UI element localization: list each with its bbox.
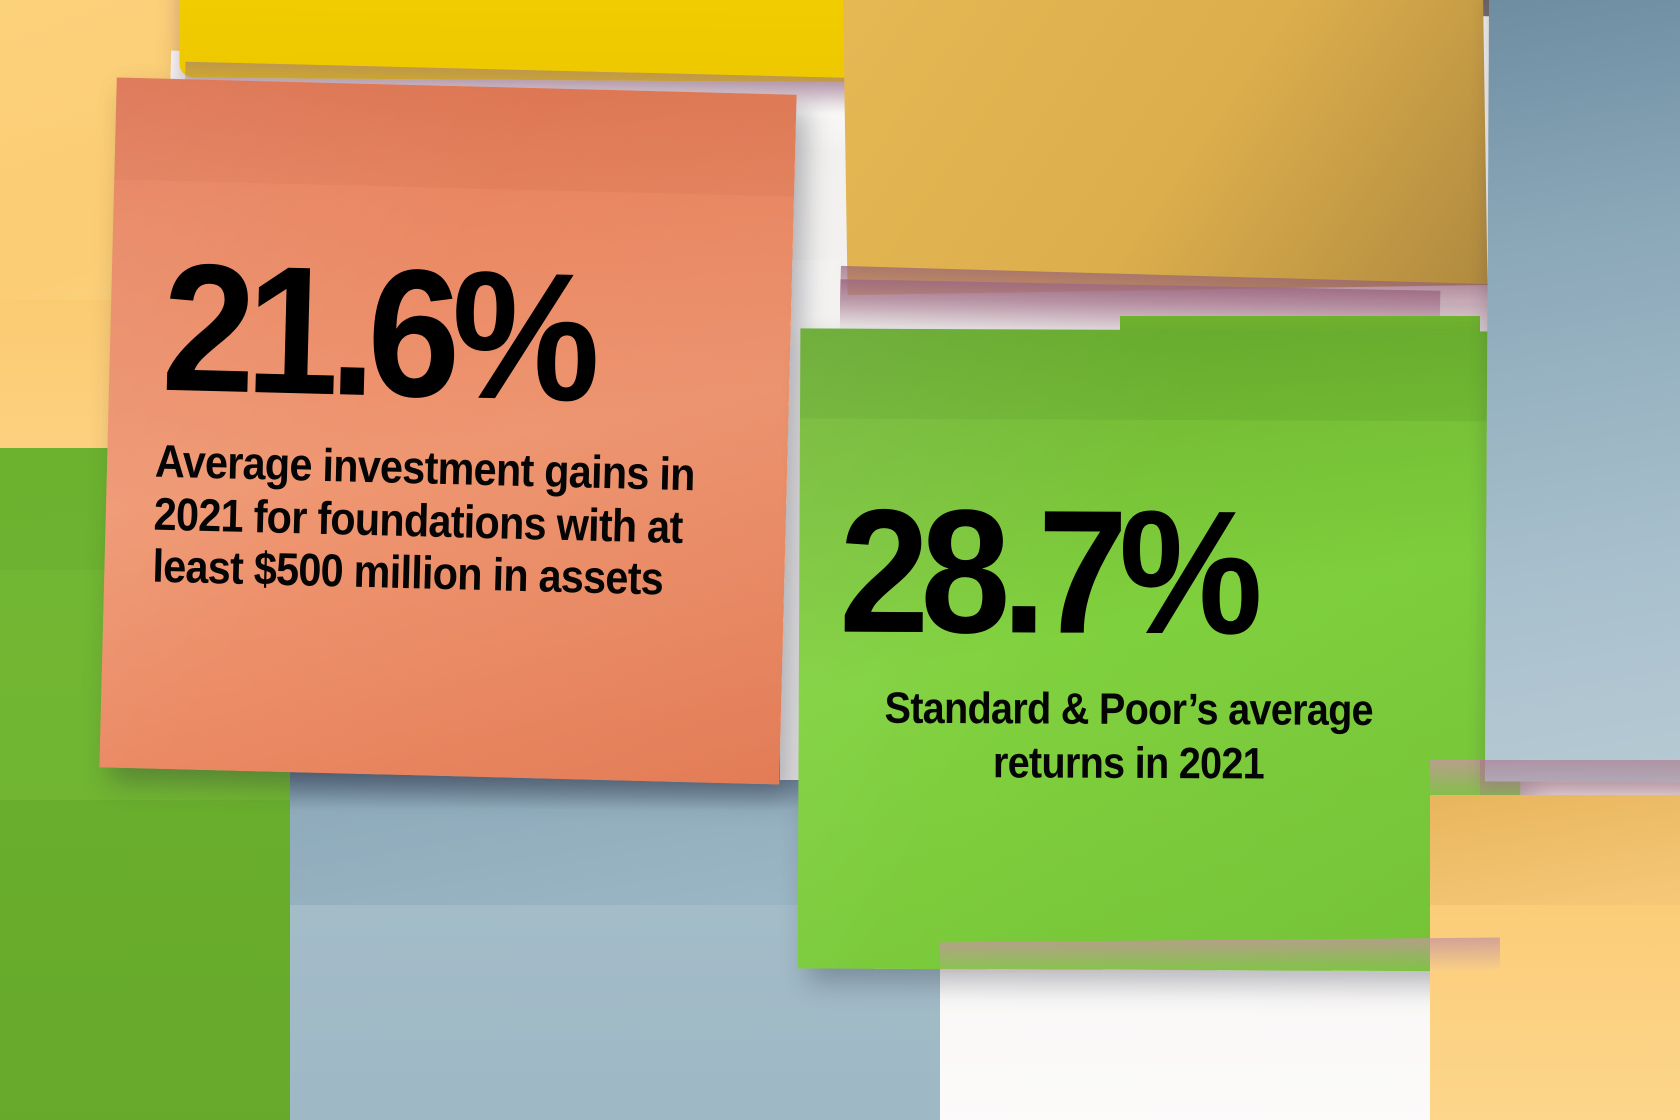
bg-note-blue-right	[1485, 0, 1680, 783]
bg-note-tan-gold	[842, 0, 1487, 295]
infographic-canvas: 21.6% Average investment gains in 2021 f…	[0, 0, 1680, 1120]
bg-shadow-pink-lower	[940, 938, 1500, 977]
stat-value-orange: 21.6%	[161, 247, 743, 422]
stat-caption-orange: Average investment gains in 2021 for fou…	[152, 435, 786, 608]
bg-note-green-left-low	[0, 800, 300, 1120]
bg-strip-white-bottom	[940, 960, 1460, 1120]
stat-card-green[interactable]: 28.7% Standard & Poor’s average returns …	[798, 328, 1523, 971]
stat-card-orange[interactable]: 21.6% Average investment gains in 2021 f…	[99, 78, 796, 785]
stat-caption-green: Standard & Poor’s average returns in 202…	[831, 681, 1425, 791]
stat-value-green: 28.7%	[839, 495, 1467, 653]
